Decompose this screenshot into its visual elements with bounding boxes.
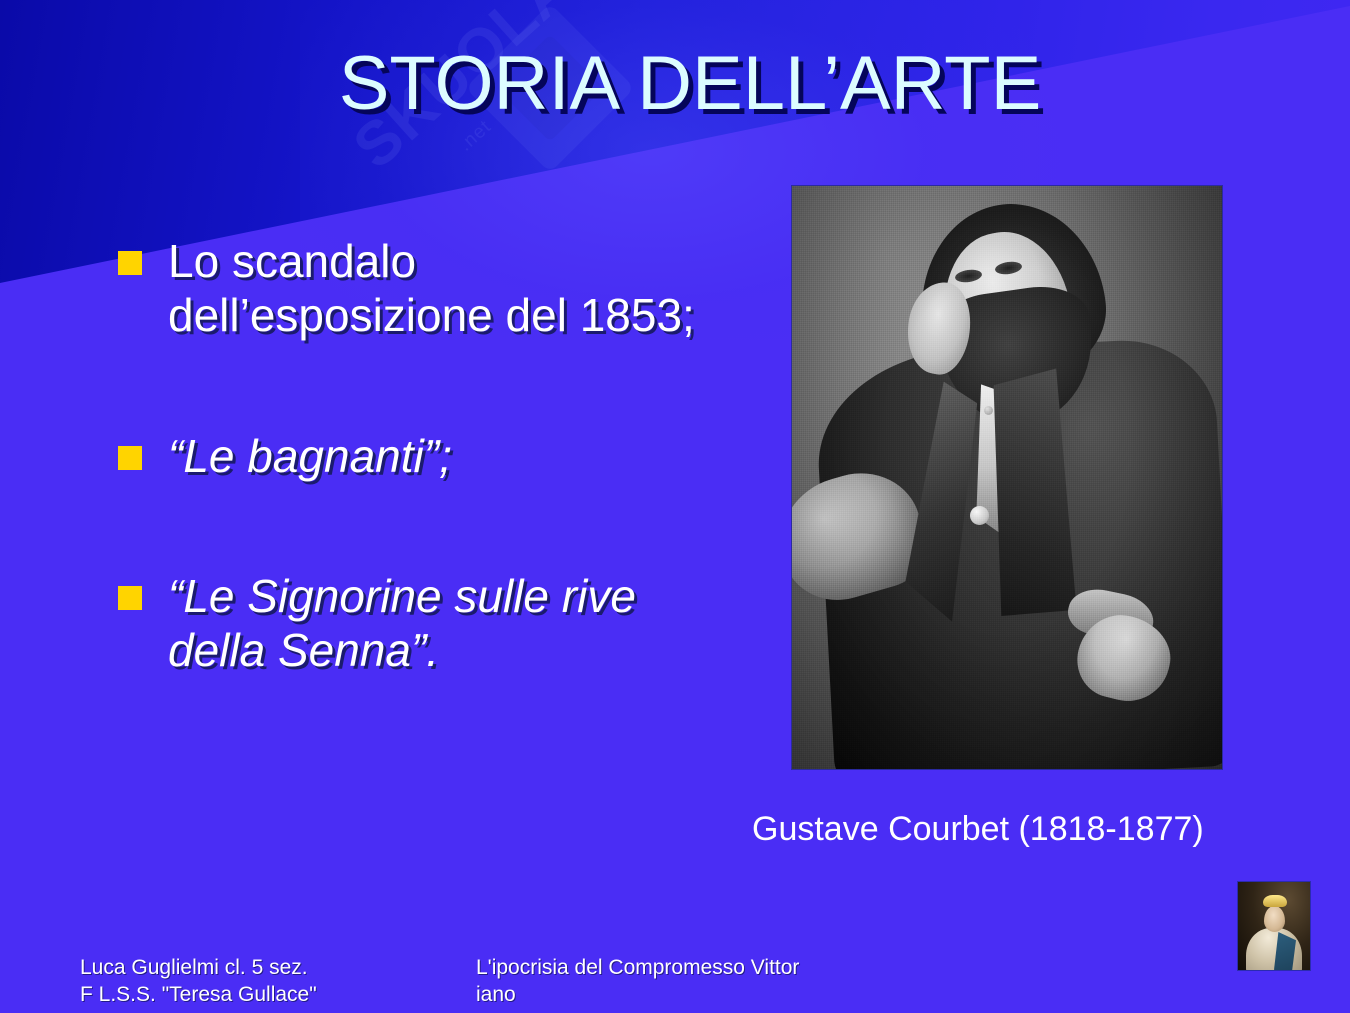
image-caption: Gustave Courbet (1818-1877) <box>752 810 1312 849</box>
portrait-artwork <box>792 186 1222 769</box>
square-bullet-icon <box>118 251 142 275</box>
square-bullet-icon <box>118 446 142 470</box>
bullet-item-label: Lo scandalo dell’esposizione del 1853; <box>168 234 738 343</box>
square-bullet-icon <box>118 586 142 610</box>
slide-canvas: SKUOLA .net STORIA DELL’ARTE Lo scandalo… <box>0 0 1350 1013</box>
bullet-item-label: “Le bagnanti”; <box>168 429 738 483</box>
courbet-portrait-photo <box>792 186 1222 769</box>
bullet-list: Lo scandalo dell’esposizione del 1853; “… <box>118 234 738 677</box>
footer-subject: L'ipocrisia del Compromesso Vittor iano <box>476 955 896 1009</box>
list-item: “Le bagnanti”; <box>118 429 738 483</box>
list-item: “Le Signorine sulle rive della Senna”. <box>118 569 738 678</box>
slide-title: STORIA DELL’ARTE <box>0 46 1350 122</box>
footer-subject-line2: iano <box>476 982 896 1009</box>
portrait-film-grain <box>792 186 1222 769</box>
footer-author: Luca Guglielmi cl. 5 sez. F L.S.S. "Tere… <box>80 955 460 1009</box>
queen-victoria-thumbnail <box>1238 882 1310 970</box>
thumbnail-face <box>1264 906 1285 932</box>
bullet-item-label: “Le Signorine sulle rive della Senna”. <box>168 569 738 678</box>
footer-subject-line1: L'ipocrisia del Compromesso Vittor <box>476 955 896 982</box>
thumbnail-crown-icon <box>1263 895 1287 907</box>
footer-author-line1: Luca Guglielmi cl. 5 sez. <box>80 955 460 982</box>
list-item: Lo scandalo dell’esposizione del 1853; <box>118 234 738 343</box>
footer-author-line2: F L.S.S. "Teresa Gullace" <box>80 982 460 1009</box>
